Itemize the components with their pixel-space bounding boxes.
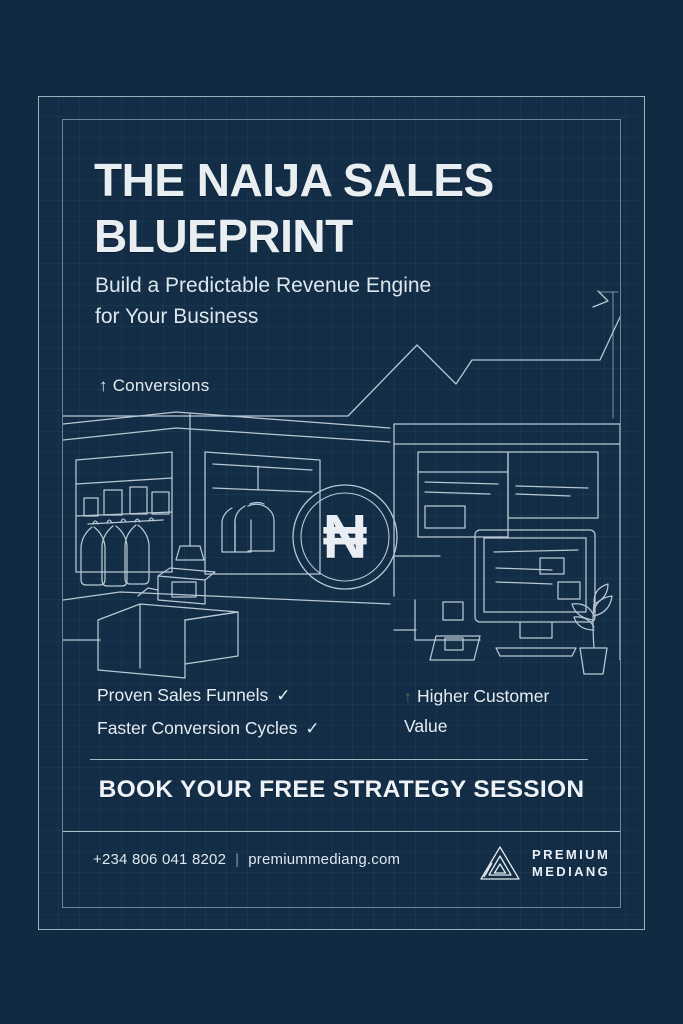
poster-canvas: ₦ THE NAIJA SALES BLUEPRINT Build a Pred…	[0, 0, 683, 1024]
conversions-label: ↑Conversions	[99, 376, 209, 396]
triangle-logo-icon	[478, 843, 522, 883]
brand-name: PREMIUM MEDIANG	[532, 846, 610, 880]
page-subtitle-line2: for Your Business	[95, 301, 515, 332]
list-item: Proven Sales Funnels✓	[97, 679, 387, 712]
cta-headline[interactable]: BOOK YOUR FREE STRATEGY SESSION	[0, 776, 683, 804]
phone-number[interactable]: +234 806 041 8202	[93, 851, 226, 868]
page-title: THE NAIJA SALES BLUEPRINT	[94, 152, 574, 264]
divider-above-cta	[90, 759, 588, 760]
website-url[interactable]: premiummediang.com	[248, 851, 400, 868]
benefit-text: Faster Conversion Cycles	[97, 718, 297, 738]
value-callout-line1: Higher Customer	[417, 686, 549, 706]
benefit-text: Proven Sales Funnels	[97, 685, 268, 705]
brand-name-line1: PREMIUM	[532, 846, 610, 863]
footer-separator: |	[235, 851, 239, 868]
page-subtitle-line1: Build a Predictable Revenue Engine	[95, 270, 515, 301]
check-icon: ✓	[276, 686, 290, 705]
footer-contact: +234 806 041 8202|premiummediang.com	[93, 851, 400, 868]
page-title-line2: BLUEPRINT	[94, 208, 574, 264]
arrow-up-green-icon: ↑	[404, 684, 412, 712]
page-title-line1: THE NAIJA SALES	[94, 152, 574, 208]
brand-name-line2: MEDIANG	[532, 863, 610, 880]
list-item: Faster Conversion Cycles✓	[97, 712, 387, 745]
arrow-up-icon: ↑	[99, 376, 108, 396]
conversions-label-text: Conversions	[113, 376, 210, 395]
value-callout: ↑Higher Customer Value	[404, 682, 604, 740]
divider-above-footer	[63, 831, 620, 832]
brand-logo: PREMIUM MEDIANG	[478, 843, 610, 883]
naira-currency-icon: ₦	[293, 497, 397, 577]
benefit-list: Proven Sales Funnels✓ Faster Conversion …	[97, 679, 387, 745]
page-subtitle: Build a Predictable Revenue Engine for Y…	[95, 270, 515, 332]
value-callout-line2: Value	[404, 712, 604, 740]
check-icon: ✓	[305, 719, 319, 738]
